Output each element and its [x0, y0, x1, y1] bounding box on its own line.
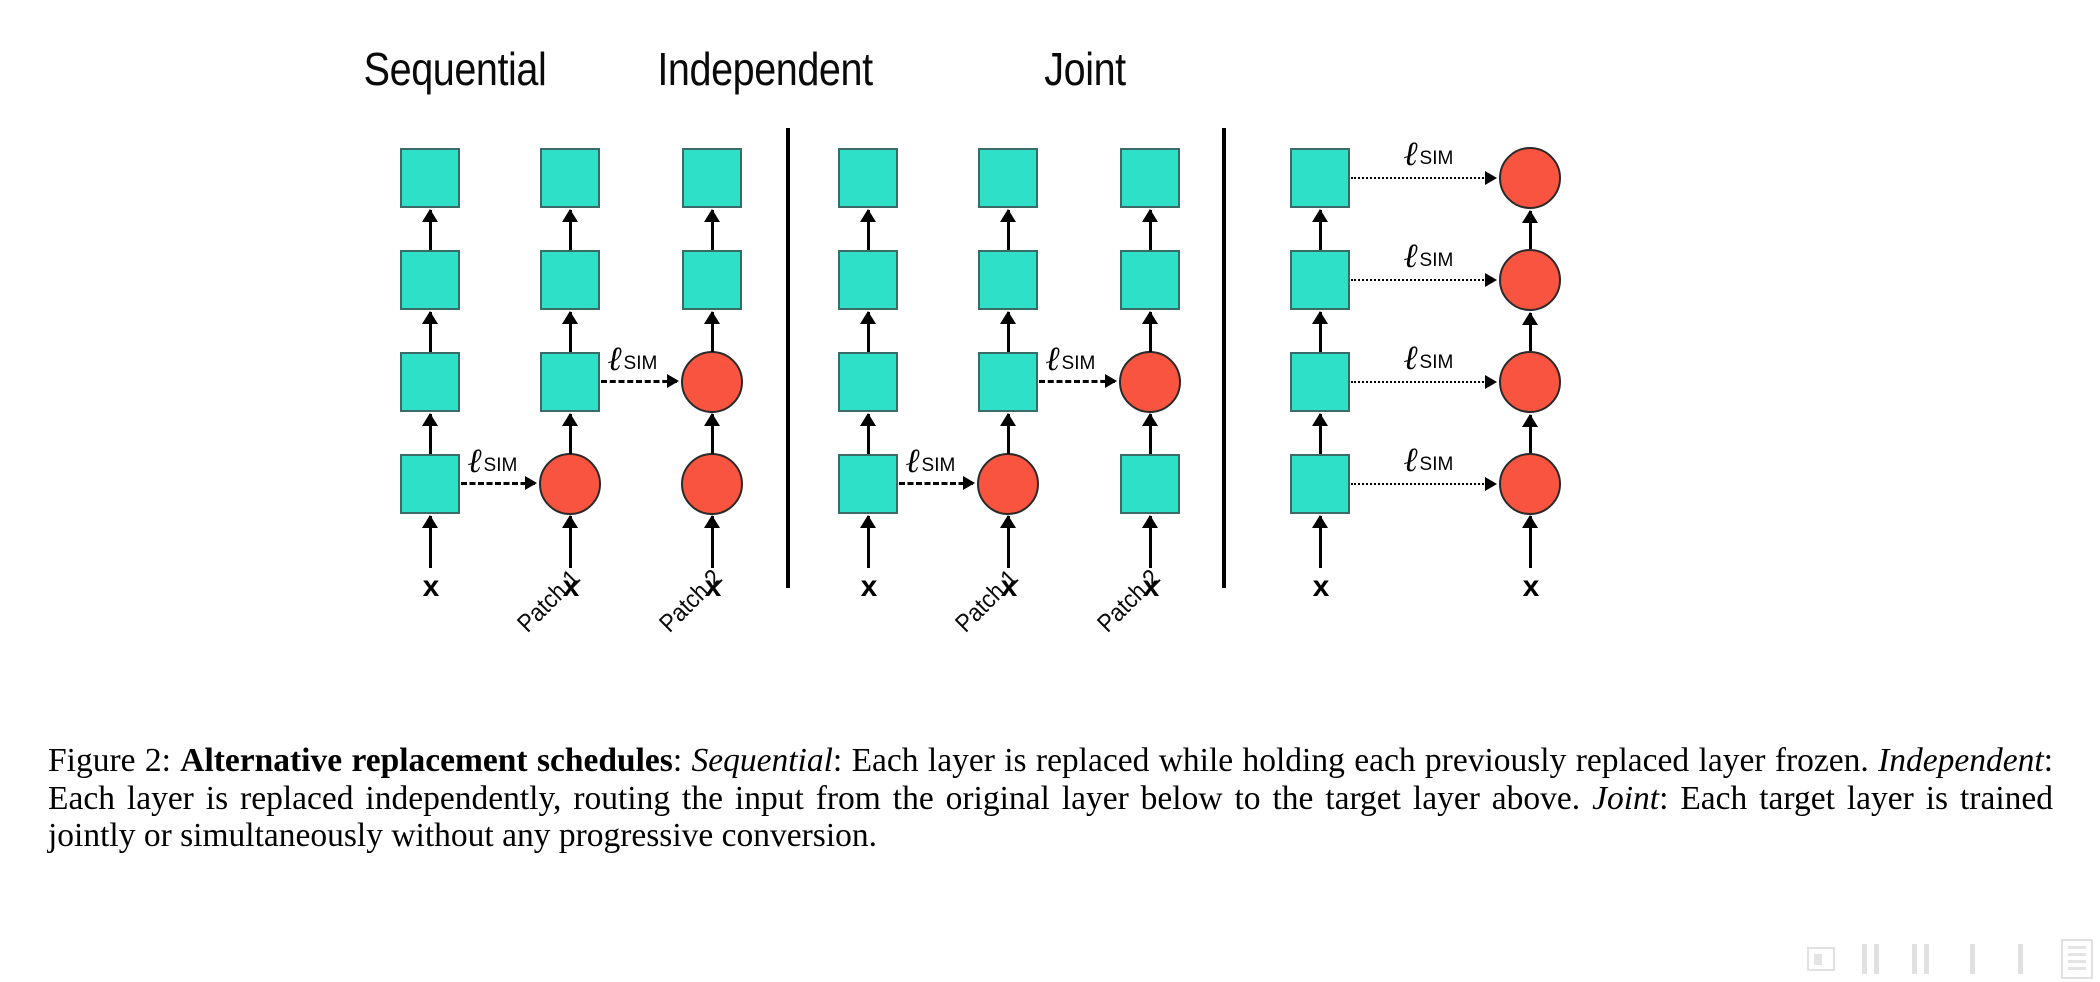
joint-c2-layer3-target [1499, 249, 1561, 311]
seq-c2-layer3-original [540, 250, 600, 310]
joint-loss-label-layer2: ℓSIM [1404, 338, 1452, 376]
seq-c3-layer1-target [681, 453, 743, 515]
joint-loss-arrow-layer3 [1351, 279, 1495, 282]
seq-c3-arrow-input [711, 516, 714, 568]
seq-c1-layer4-original [400, 148, 460, 208]
joint-c2-arrow-2-3 [1529, 313, 1532, 351]
loss-symbol: ℓ [608, 341, 623, 378]
ind-c1-arrow-2-3 [867, 312, 870, 352]
seq-c1-input-label: x [404, 570, 458, 604]
caption-bold-title: Alternative replacement schedules [180, 742, 673, 779]
joint-c1-arrow-input [1319, 516, 1322, 568]
ind-c3-arrow-input [1149, 516, 1152, 568]
seq-c3-arrow-2-3 [711, 312, 714, 352]
ind-loss-arrow-layer2 [1039, 380, 1115, 383]
caption-figure-number: Figure 2: [48, 742, 171, 779]
ind-c1-layer1-original [838, 454, 898, 514]
joint-loss-arrow-layer2 [1351, 381, 1495, 384]
seq-c3-layer4-original [682, 148, 742, 208]
ind-c1-layer4-original [838, 148, 898, 208]
ind-c2-arrow-2-3 [1007, 312, 1010, 352]
joint-c2-input-label: x [1504, 570, 1558, 604]
seq-c2-arrow-3-4 [569, 210, 572, 250]
seq-c1-arrow-2-3 [429, 312, 432, 352]
ind-c1-input-label: x [842, 570, 896, 604]
caption-term-sequential: Sequential [692, 742, 833, 779]
scan-artifact [1800, 934, 2100, 982]
seq-c1-arrow-1-2 [429, 414, 432, 454]
ind-c3-arrow-3-4 [1149, 210, 1152, 250]
diagram-canvas: Sequential Independent Joint x x Patch 1 [0, 0, 2100, 730]
ind-c3-layer4-original [1120, 148, 1180, 208]
figure-page: Sequential Independent Joint x x Patch 1 [0, 0, 2100, 982]
joint-c2-arrow-3-4 [1529, 211, 1532, 249]
seq-c2-arrow-input [569, 516, 572, 568]
loss-symbol: ℓ [1404, 340, 1419, 377]
seq-c3-layer3-original [682, 250, 742, 310]
figure-caption: Figure 2: Alternative replacement schedu… [48, 742, 2053, 855]
joint-c1-layer3-original [1290, 250, 1350, 310]
seq-c1-layer2-original [400, 352, 460, 412]
ind-c2-layer4-original [978, 148, 1038, 208]
seq-loss-label-layer1: ℓSIM [468, 441, 516, 479]
joint-loss-arrow-layer4 [1351, 177, 1495, 180]
seq-c1-layer3-original [400, 250, 460, 310]
joint-c2-layer2-target [1499, 351, 1561, 413]
ind-loss-label-layer1: ℓSIM [906, 441, 954, 479]
loss-subscript: SIM [922, 455, 956, 476]
joint-c1-arrow-2-3 [1319, 312, 1322, 352]
seq-c2-layer1-target [539, 453, 601, 515]
loss-symbol: ℓ [1404, 238, 1419, 275]
ind-c1-layer3-original [838, 250, 898, 310]
joint-loss-label-layer3: ℓSIM [1404, 236, 1452, 274]
ind-c3-layer2-target [1119, 351, 1181, 413]
loss-symbol: ℓ [906, 443, 921, 480]
joint-loss-label-layer4: ℓSIM [1404, 134, 1452, 172]
joint-c1-layer2-original [1290, 352, 1350, 412]
loss-symbol: ℓ [1404, 442, 1419, 479]
joint-c2-layer4-target [1499, 147, 1561, 209]
caption-term-independent: Independent [1878, 742, 2044, 779]
ind-c2-layer2-original [978, 352, 1038, 412]
ind-c1-arrow-3-4 [867, 210, 870, 250]
seq-c3-arrow-3-4 [711, 210, 714, 250]
seq-loss-arrow-layer2 [601, 380, 677, 383]
panel-title-sequential: Sequential [326, 42, 584, 96]
seq-c1-arrow-input [429, 516, 432, 568]
loss-subscript: SIM [484, 455, 518, 476]
seq-c2-layer4-original [540, 148, 600, 208]
ind-c2-arrow-3-4 [1007, 210, 1010, 250]
joint-c1-input-label: x [1294, 570, 1348, 604]
ind-c1-arrow-1-2 [867, 414, 870, 454]
loss-subscript: SIM [624, 353, 658, 374]
ind-loss-arrow-layer1 [899, 482, 973, 485]
joint-c2-arrow-input [1529, 516, 1532, 568]
joint-c1-layer1-original [1290, 454, 1350, 514]
joint-c2-arrow-1-2 [1529, 415, 1532, 453]
loss-symbol: ℓ [1046, 341, 1061, 378]
loss-subscript: SIM [1420, 352, 1454, 373]
ind-c2-layer1-target [977, 453, 1039, 515]
ind-c3-layer1-original [1120, 454, 1180, 514]
caption-colon-1: : [673, 742, 692, 779]
joint-c1-arrow-3-4 [1319, 210, 1322, 250]
ind-c1-layer2-original [838, 352, 898, 412]
seq-c2-arrow-2-3 [569, 312, 572, 352]
ind-loss-label-layer2: ℓSIM [1046, 339, 1094, 377]
ind-c2-arrow-1-2 [1007, 414, 1010, 454]
joint-loss-label-layer1: ℓSIM [1404, 440, 1452, 478]
ind-c3-arrow-2-3 [1149, 312, 1152, 352]
loss-symbol: ℓ [1404, 136, 1419, 173]
loss-symbol: ℓ [468, 443, 483, 480]
ind-c1-arrow-input [867, 516, 870, 568]
panel-divider-2 [1222, 128, 1226, 588]
joint-c1-layer4-original [1290, 148, 1350, 208]
seq-c2-arrow-1-2 [569, 414, 572, 454]
panel-divider-1 [786, 128, 790, 588]
panel-title-joint: Joint [956, 42, 1214, 96]
caption-body-1: : Each layer is replaced while holding e… [833, 742, 1878, 779]
loss-subscript: SIM [1420, 250, 1454, 271]
seq-c1-layer1-original [400, 454, 460, 514]
seq-c1-arrow-3-4 [429, 210, 432, 250]
seq-c3-layer2-target [681, 351, 743, 413]
panel-title-independent: Independent [636, 42, 894, 96]
ind-c2-arrow-input [1007, 516, 1010, 568]
loss-subscript: SIM [1420, 148, 1454, 169]
seq-c3-arrow-1-2 [711, 414, 714, 454]
joint-c1-arrow-1-2 [1319, 414, 1322, 454]
seq-loss-label-layer2: ℓSIM [608, 339, 656, 377]
caption-term-joint: Joint [1592, 780, 1659, 817]
seq-loss-arrow-layer1 [461, 482, 535, 485]
loss-subscript: SIM [1062, 353, 1096, 374]
joint-loss-arrow-layer1 [1351, 483, 1495, 486]
ind-c3-layer3-original [1120, 250, 1180, 310]
joint-c2-layer1-target [1499, 453, 1561, 515]
seq-c2-layer2-original [540, 352, 600, 412]
ind-c2-layer3-original [978, 250, 1038, 310]
ind-c3-arrow-1-2 [1149, 414, 1152, 454]
loss-subscript: SIM [1420, 454, 1454, 475]
